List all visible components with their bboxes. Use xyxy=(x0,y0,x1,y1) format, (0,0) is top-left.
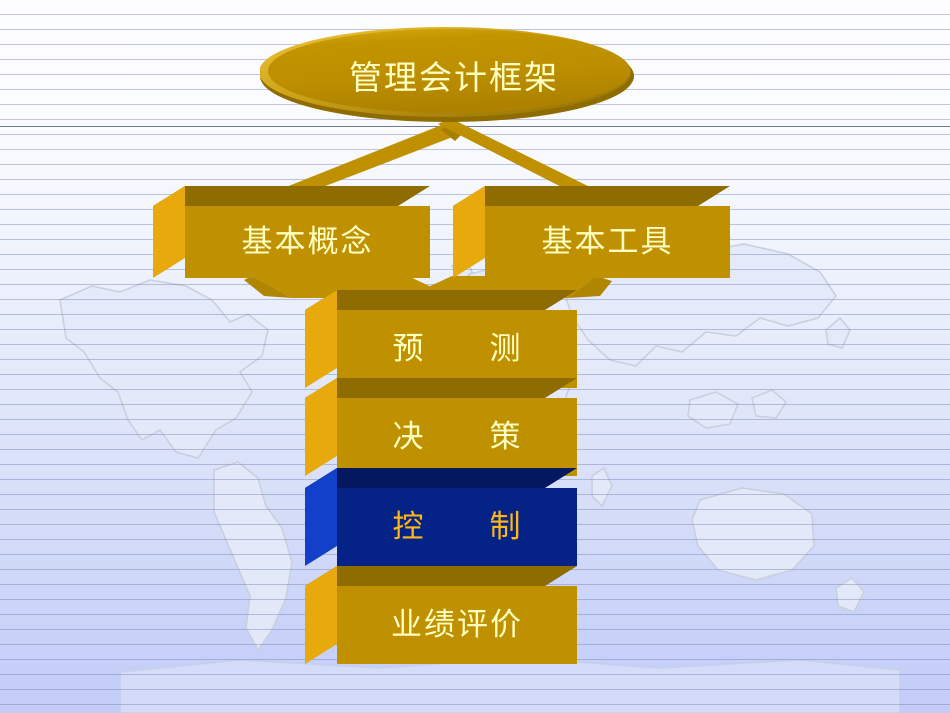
box-front-face: 控 制 xyxy=(337,488,577,566)
box-label: 决 策 xyxy=(392,422,521,453)
box-label: 业绩评价 xyxy=(391,610,523,641)
slide-canvas: 管理会计框架 基本概念 基本工具 预 测 决 策 xyxy=(0,0,950,713)
box-basic-tools[interactable]: 基本工具 xyxy=(485,206,730,278)
box-performance-evaluation[interactable]: 业绩评价 xyxy=(337,586,577,664)
box-top-face xyxy=(305,378,577,398)
box-top-face xyxy=(453,186,730,206)
box-top-face xyxy=(305,468,577,488)
title-ellipse-label: 管理会计框架 xyxy=(260,22,634,122)
box-top-face xyxy=(153,186,430,206)
box-front-face: 决 策 xyxy=(337,398,577,476)
box-front-face: 预 测 xyxy=(337,310,577,388)
box-label: 基本工具 xyxy=(542,227,674,258)
box-front-face: 基本工具 xyxy=(485,206,730,278)
box-front-face: 业绩评价 xyxy=(337,586,577,664)
box-top-face xyxy=(305,566,577,586)
box-label: 预 测 xyxy=(392,334,521,365)
box-top-face xyxy=(305,290,577,310)
box-label: 控 制 xyxy=(392,512,521,543)
box-decision[interactable]: 决 策 xyxy=(337,398,577,476)
box-basic-concepts[interactable]: 基本概念 xyxy=(185,206,430,278)
box-front-face: 基本概念 xyxy=(185,206,430,278)
title-ellipse-shape[interactable]: 管理会计框架 xyxy=(260,22,634,122)
box-forecast[interactable]: 预 测 xyxy=(337,310,577,388)
box-label: 基本概念 xyxy=(242,227,374,258)
box-control[interactable]: 控 制 xyxy=(337,488,577,566)
